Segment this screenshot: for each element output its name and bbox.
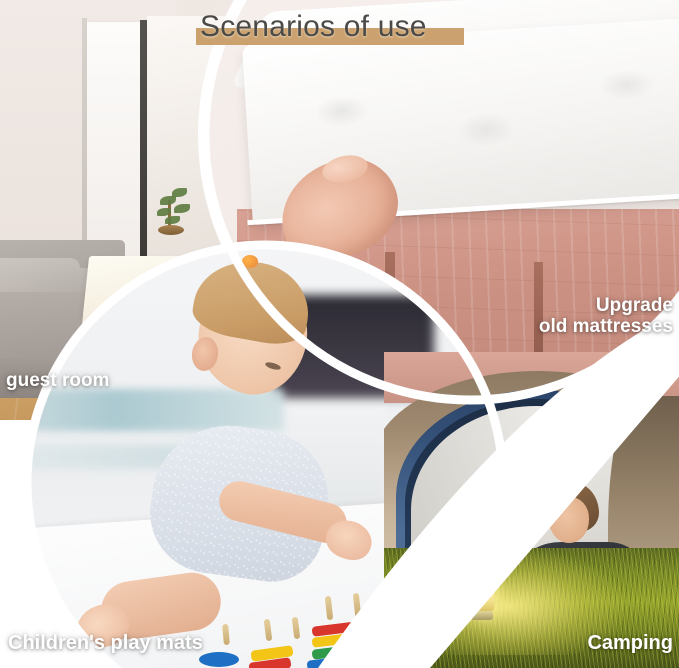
label-guest-room: guest room [6,370,109,391]
lantern-base [471,611,493,620]
panel-camping [384,352,679,668]
camping-lantern [467,576,497,624]
label-upgrade-line2: old mattresses [539,316,673,337]
title-banner: Scenarios of use [196,8,476,52]
door-frame-light [82,18,87,276]
blurred-teal-shelf [30,389,284,431]
woman-face [467,507,503,549]
scenarios-of-use-collage: Scenarios of use guest room Upgrade old … [0,0,679,668]
label-camping: Camping [587,632,673,654]
hair-tie [242,255,258,268]
door-frame-dark [140,20,147,275]
plant-pot [158,225,184,235]
page-title: Scenarios of use [200,10,500,44]
label-upgrade-line1: Upgrade [539,295,673,316]
toy-peg [222,624,230,645]
bedroom-door [86,22,144,272]
label-childrens-play-mats: Children's play mats [8,632,203,654]
lantern-top [468,578,496,589]
lantern-body [470,586,494,612]
label-upgrade-old-mattresses: Upgrade old mattresses [539,295,673,338]
